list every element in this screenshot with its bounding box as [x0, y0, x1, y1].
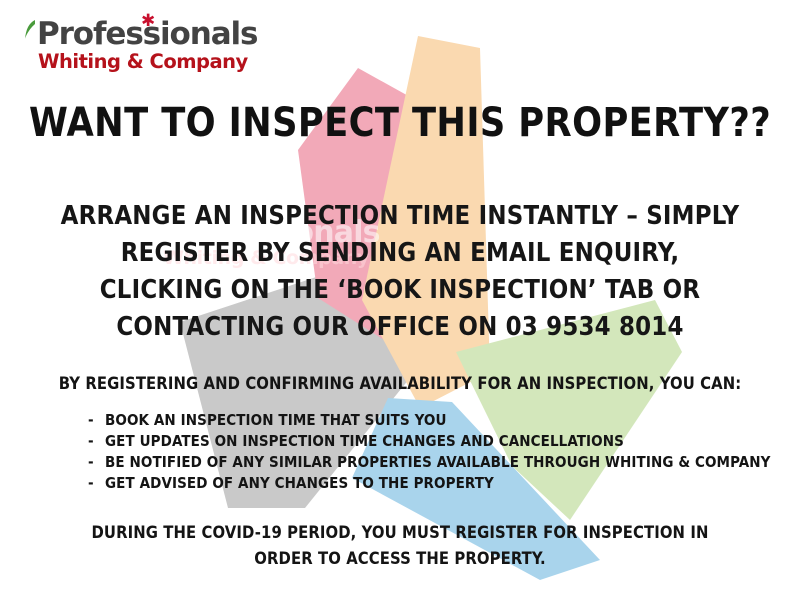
list-item: - GET ADVISED OF ANY CHANGES TO THE PROP… — [88, 473, 788, 494]
star-icon: ✱ — [141, 13, 154, 30]
list-item-label: GET UPDATES ON INSPECTION TIME CHANGES A… — [105, 431, 624, 452]
list-item: - BE NOTIFIED OF ANY SIMILAR PROPERTIES … — [88, 452, 788, 473]
poster-text-content: WANT TO INSPECT THIS PROPERTY?? ARRANGE … — [0, 0, 800, 600]
bullet-dash: - — [88, 473, 105, 494]
benefits-intro: BY REGISTERING AND CONFIRMING AVAILABILI… — [40, 374, 760, 394]
logo-brand-row: Professionals ✱ — [24, 18, 257, 51]
list-item-label: BE NOTIFIED OF ANY SIMILAR PROPERTIES AV… — [105, 452, 771, 473]
list-item: - BOOK AN INSPECTION TIME THAT SUITS YOU — [88, 410, 788, 431]
poster-canvas: Professionals Whiting & Company Professi… — [0, 0, 800, 600]
bullet-dash: - — [88, 410, 105, 431]
bullet-dash: - — [88, 431, 105, 452]
logo-brand-text: Professionals ✱ — [37, 18, 257, 51]
logo-office-text: Whiting & Company — [38, 51, 257, 73]
bullet-dash: - — [88, 452, 105, 473]
page-title: WANT TO INSPECT THIS PROPERTY?? — [8, 100, 792, 146]
list-item-label: GET ADVISED OF ANY CHANGES TO THE PROPER… — [105, 473, 494, 494]
benefits-list: - BOOK AN INSPECTION TIME THAT SUITS YOU… — [88, 410, 788, 494]
covid-notice: DURING THE COVID-19 PERIOD, YOU MUST REG… — [60, 520, 740, 572]
lead-paragraph: ARRANGE AN INSPECTION TIME INSTANTLY – S… — [60, 198, 740, 346]
professionals-logo: Professionals ✱ Whiting & Company — [22, 16, 265, 77]
list-item: - GET UPDATES ON INSPECTION TIME CHANGES… — [88, 431, 788, 452]
leaf-icon — [24, 20, 36, 40]
list-item-label: BOOK AN INSPECTION TIME THAT SUITS YOU — [105, 410, 447, 431]
